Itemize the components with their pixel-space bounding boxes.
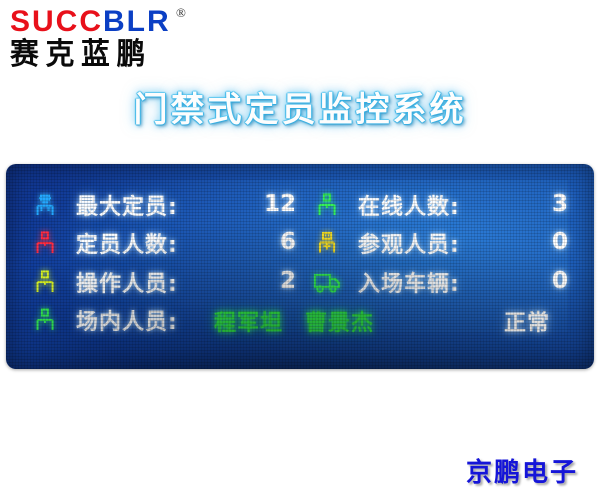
led-row: 操作人员: 2 入场车辆: 0 <box>6 263 594 301</box>
led-row-onsite: 场内人员: 程军坦 曹景杰 正常 <box>6 301 594 339</box>
person-icon <box>28 265 62 299</box>
person-icon <box>28 303 62 337</box>
onsite-names-list: 程军坦 曹景杰 <box>214 305 374 337</box>
metric-max-capacity: 最大定员: 12 <box>28 186 310 224</box>
led-row: 定员人数: 6 参观人员: 0 <box>6 224 594 262</box>
metric-value: 0 <box>552 229 568 255</box>
registered-trademark-icon: ® <box>176 5 186 21</box>
metric-value: 6 <box>280 229 296 255</box>
metric-label: 入场车辆: <box>358 266 460 298</box>
page-title: 门禁式定员监控系统 <box>0 88 600 132</box>
metric-value: 12 <box>264 191 296 217</box>
person-hat-icon <box>28 188 62 222</box>
onsite-personnel-row: 场内人员: 程军坦 曹景杰 正常 <box>28 301 588 339</box>
metric-label: 参观人员: <box>358 227 460 259</box>
metric-value: 2 <box>280 268 296 294</box>
metric-vehicle-count: 入场车辆: 0 <box>310 263 588 301</box>
metric-value: 0 <box>552 268 568 294</box>
person-helmet-icon <box>310 226 344 260</box>
footer-brand: 京鹏电子 <box>466 452 578 489</box>
brand-logo: SUCCBLR ® 赛克蓝鹏 <box>8 6 238 76</box>
logo-chinese-name: 赛克蓝鹏 <box>10 37 152 73</box>
metric-assigned-capacity: 定员人数: 6 <box>28 224 310 262</box>
onsite-name: 程军坦 <box>214 305 283 337</box>
led-row: 最大定员: 12 在线人数: 3 <box>6 186 594 224</box>
metric-label: 定员人数: <box>76 227 178 259</box>
metric-operator-count: 操作人员: 2 <box>28 263 310 301</box>
onsite-label: 场内人员: <box>76 304 178 336</box>
truck-icon <box>310 265 344 299</box>
metric-online-count: 在线人数: 3 <box>310 186 588 224</box>
person-icon <box>28 226 62 260</box>
logo-wordmark: SUCCBLR <box>10 6 171 38</box>
metric-value: 3 <box>552 191 568 217</box>
metric-label: 最大定员: <box>76 189 178 221</box>
led-display-panel: 最大定员: 12 在线人数: 3 <box>6 164 594 369</box>
metric-label: 操作人员: <box>76 266 178 298</box>
status-badge: 正常 <box>504 305 550 337</box>
logo-wordmark-succ: SUCC <box>10 5 103 38</box>
onsite-name: 曹景杰 <box>305 305 374 337</box>
logo-wordmark-blr: BLR <box>103 5 171 38</box>
metric-visitor-count: 参观人员: 0 <box>310 224 588 262</box>
metric-label: 在线人数: <box>358 189 460 221</box>
person-icon <box>310 188 344 222</box>
